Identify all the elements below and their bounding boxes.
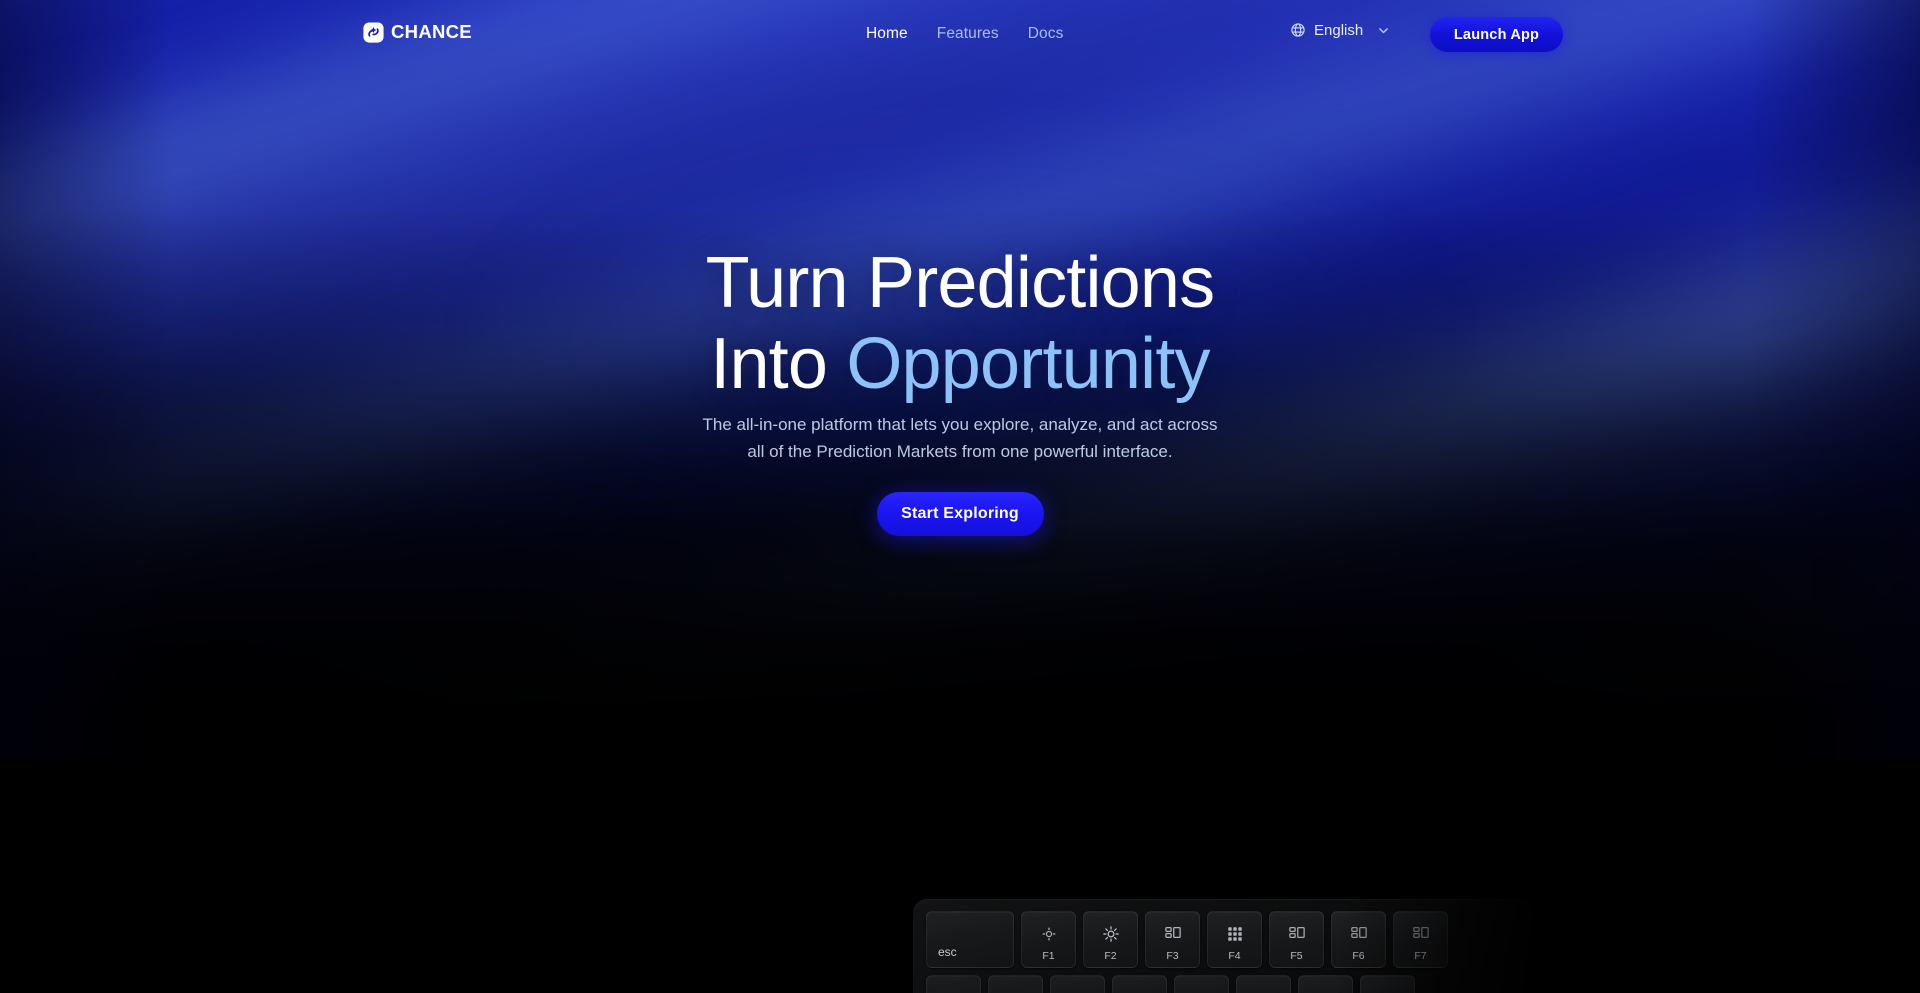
key-row2-6[interactable]: [1236, 975, 1291, 993]
key-f6[interactable]: F6: [1331, 911, 1386, 968]
chance-leaf-logo-icon: [363, 22, 384, 43]
language-selector[interactable]: English: [1290, 22, 1390, 38]
brand-logo[interactable]: CHANCE: [363, 22, 472, 43]
key-row2-7[interactable]: [1298, 975, 1353, 993]
key-f2[interactable]: F2: [1083, 911, 1138, 968]
launch-app-button[interactable]: Launch App: [1430, 17, 1563, 52]
hero-subheadline: The all-in-one platform that lets you ex…: [0, 412, 1920, 466]
nav-links: Home Features Docs: [866, 26, 1063, 42]
hero-headline: Turn Predictions Into Opportunity: [0, 243, 1920, 406]
key-row2-8[interactable]: [1360, 975, 1415, 993]
launchpad-grid-icon: [1226, 925, 1244, 943]
headline-line-1: Turn Predictions: [0, 243, 1920, 324]
brightness-down-icon: [1040, 925, 1058, 943]
keyboard-function-row: esc F1: [926, 911, 1533, 968]
key-row2-5[interactable]: [1174, 975, 1229, 993]
headline-line-2-prefix: Into: [710, 324, 846, 404]
key-f3[interactable]: F3: [1145, 911, 1200, 968]
language-label: English: [1314, 23, 1363, 38]
start-exploring-button[interactable]: Start Exploring: [877, 492, 1044, 536]
headline-line-2: Into Opportunity: [0, 324, 1920, 405]
key-row2-2[interactable]: [988, 975, 1043, 993]
key-esc[interactable]: esc: [926, 911, 1014, 968]
mission-control-icon: [1288, 925, 1306, 943]
key-row2-4[interactable]: [1112, 975, 1167, 993]
subheadline-line-2: all of the Prediction Markets from one p…: [0, 439, 1920, 466]
key-row2-3[interactable]: [1050, 975, 1105, 993]
nav-link-docs[interactable]: Docs: [1028, 26, 1064, 42]
nav-link-home[interactable]: Home: [866, 26, 908, 42]
navbar: CHANCE Home Features Docs English: [0, 0, 1920, 70]
key-f3-label: F3: [1166, 951, 1178, 962]
mission-control-icon: [1164, 925, 1182, 943]
nav-link-features[interactable]: Features: [937, 26, 999, 42]
keyboard-number-row: [926, 975, 1533, 993]
key-f5-label: F5: [1290, 951, 1302, 962]
key-f4[interactable]: F4: [1207, 911, 1262, 968]
key-row2-1[interactable]: [926, 975, 981, 993]
globe-icon: [1290, 22, 1306, 38]
chevron-down-icon: [1371, 24, 1390, 37]
key-f7-label: F7: [1414, 951, 1426, 962]
mission-control-icon: [1350, 925, 1368, 943]
hero-cta-container: Start Exploring: [0, 492, 1920, 536]
key-f7[interactable]: F7: [1393, 911, 1448, 968]
subheadline-line-1: The all-in-one platform that lets you ex…: [0, 412, 1920, 439]
key-f1[interactable]: F1: [1021, 911, 1076, 968]
mission-control-icon: [1412, 925, 1430, 943]
keyboard-stage: esc F1: [0, 760, 1920, 993]
headline-accent-word: Opportunity: [846, 324, 1209, 404]
macbook-keyboard: esc F1: [913, 899, 1533, 993]
key-f5[interactable]: F5: [1269, 911, 1324, 968]
brightness-up-icon: [1102, 925, 1120, 943]
key-f2-label: F2: [1104, 951, 1116, 962]
key-f4-label: F4: [1228, 951, 1240, 962]
key-esc-label: esc: [938, 946, 957, 958]
landing-page: CHANCE Home Features Docs English: [0, 0, 1920, 993]
key-f1-label: F1: [1042, 951, 1054, 962]
key-f6-label: F6: [1352, 951, 1364, 962]
brand-name: CHANCE: [391, 23, 472, 42]
